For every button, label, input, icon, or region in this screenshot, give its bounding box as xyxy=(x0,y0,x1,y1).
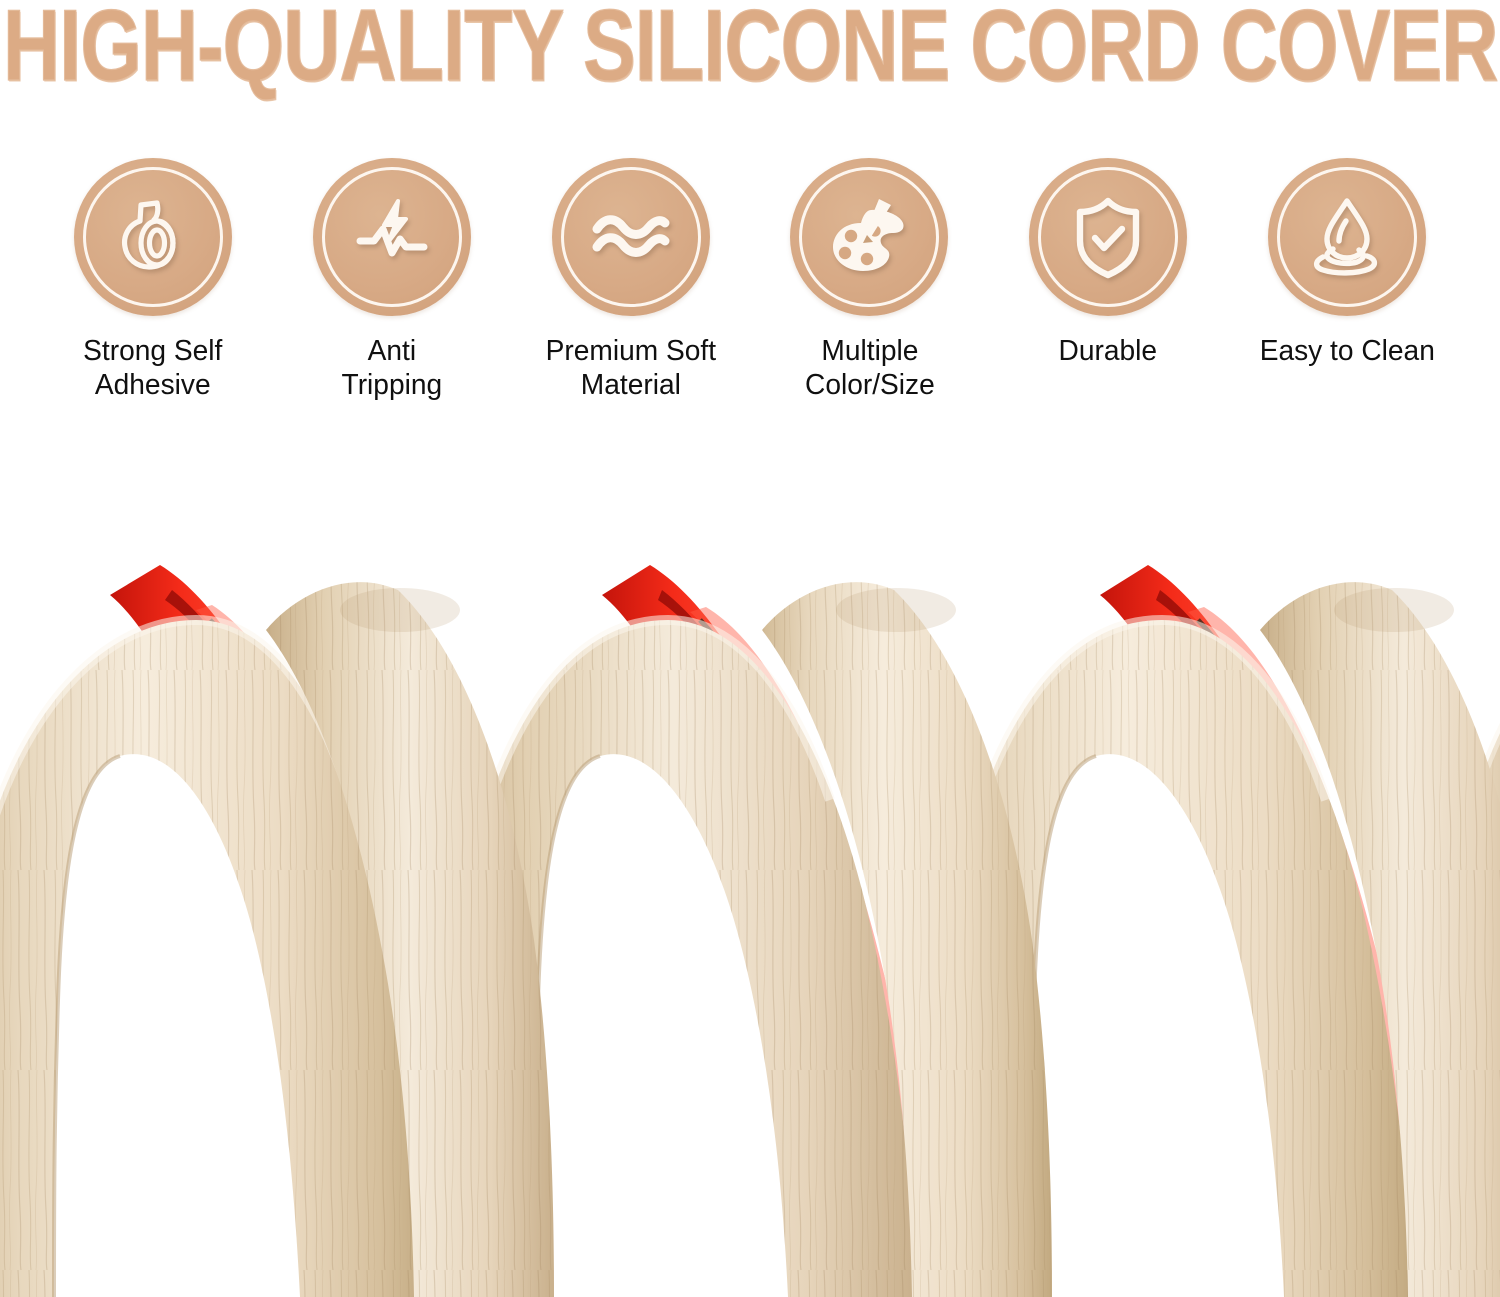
feature-badge-circle xyxy=(1029,158,1187,316)
feature-badge-row: Strong Self Adhesive Anti Tripping xyxy=(40,158,1460,402)
cord-cover-coil-illustration xyxy=(0,470,1500,1297)
feature-multiple-color-size: Multiple Color/Size xyxy=(756,158,982,402)
feature-label: Premium Soft Material xyxy=(545,334,715,402)
feature-label-line1: Durable xyxy=(1059,334,1158,368)
feature-durable: Durable xyxy=(995,158,1221,368)
feature-label-line1: Multiple xyxy=(805,334,935,368)
feature-badge-circle xyxy=(313,158,471,316)
wavy-lines-icon xyxy=(585,191,677,283)
feature-label-line1: Premium Soft xyxy=(545,334,715,368)
product-infographic-page: HIGH-QUALITY SILICONE CORD COVER Strong … xyxy=(0,0,1500,1297)
feature-label: Strong Self Adhesive xyxy=(83,334,222,402)
water-droplet-ripple-icon xyxy=(1301,191,1393,283)
feature-label: Easy to Clean xyxy=(1259,334,1434,368)
feature-badge-circle xyxy=(790,158,948,316)
feature-premium-soft-material: Premium Soft Material xyxy=(518,158,744,402)
feature-label: Durable xyxy=(1059,334,1158,368)
feature-label-line2: Color/Size xyxy=(805,368,935,402)
product-photo xyxy=(0,470,1500,1297)
feature-badge-circle xyxy=(1268,158,1426,316)
feature-label: Multiple Color/Size xyxy=(805,334,935,402)
feature-badge-circle xyxy=(552,158,710,316)
adhesive-tape-roll-icon xyxy=(107,191,199,283)
feature-label-line1: Anti xyxy=(341,334,442,368)
feature-label-line1: Strong Self xyxy=(83,334,222,368)
shield-check-icon xyxy=(1062,191,1154,283)
feature-anti-tripping: Anti Tripping xyxy=(279,158,505,402)
paint-palette-brush-icon xyxy=(823,191,915,283)
feature-label: Anti Tripping xyxy=(341,334,442,402)
feature-label-line2: Adhesive xyxy=(83,368,222,402)
page-title: HIGH-QUALITY SILICONE CORD COVER xyxy=(3,0,1497,97)
feature-label-line1: Easy to Clean xyxy=(1259,334,1434,368)
feature-easy-to-clean: Easy to Clean xyxy=(1234,158,1460,368)
lightning-pulse-icon xyxy=(346,191,438,283)
feature-label-line2: Tripping xyxy=(341,368,442,402)
feature-label-line2: Material xyxy=(545,368,715,402)
page-title-bar: HIGH-QUALITY SILICONE CORD COVER xyxy=(0,0,1500,92)
feature-badge-circle xyxy=(74,158,232,316)
feature-strong-self-adhesive: Strong Self Adhesive xyxy=(40,158,266,402)
